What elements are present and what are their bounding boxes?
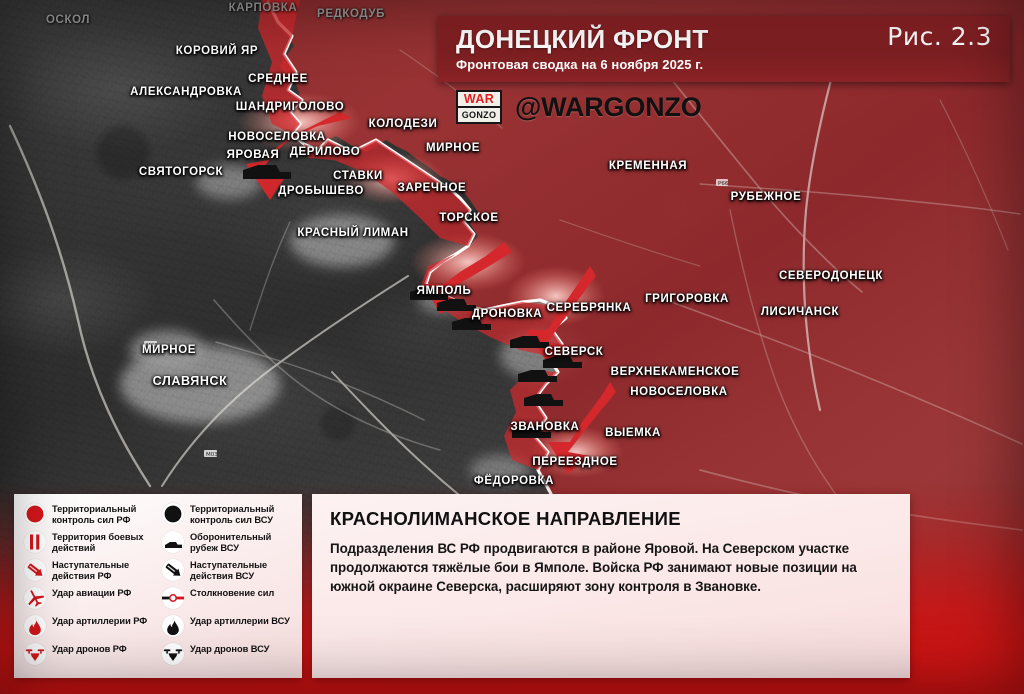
summary-body: Подразделения ВС РФ продвигаются в район… [330,539,892,596]
legend-item-label: Территориальный контроль сил РФ [52,503,156,525]
red-circle-icon [24,503,46,525]
map-infographic: М03 М03 Р66 [0,0,1024,694]
legend-item: Наступательные действия РФ [24,559,156,584]
black-drone-icon [162,643,184,665]
legend-item: Удар артиллерии РФ [24,615,156,640]
summary-title: КРАСНОЛИМАНСКОЕ НАПРАВЛЕНИЕ [330,508,892,530]
wargonzo-handle: @WARGONZO [515,92,702,123]
legend-item-label: Удар артиллерии РФ [52,615,147,627]
red-aircraft-icon [24,587,46,609]
red-arrow-icon [24,559,46,581]
legend-item-label: Удар дронов РФ [52,643,127,655]
black-circle-icon [162,503,184,525]
legend-item-label: Удар дронов ВСУ [190,643,269,655]
legend-item-label: Удар авиации РФ [52,587,131,599]
red-fire-icon [24,615,46,637]
legend-column-rf: Территориальный контроль сил РФТерритори… [24,503,156,672]
legend-item: Оборонительный рубеж ВСУ [162,531,294,556]
clash-icon [162,587,184,609]
wargonzo-logo: WAR GONZO [456,90,502,124]
legend-item: Удар авиации РФ [24,587,156,612]
legend-item: Удар артиллерии ВСУ [162,615,294,640]
legend-item: Территориальный контроль сил РФ [24,503,156,528]
title-bar: ДОНЕЦКИЙ ФРОНТ Фронтовая сводка на 6 ноя… [438,16,1010,82]
legend-item: Наступательные действия ВСУ [162,559,294,584]
legend-item-label: Оборонительный рубеж ВСУ [190,531,294,553]
black-fire-icon [162,615,184,637]
legend-item: Удар дронов РФ [24,643,156,668]
title-subtitle: Фронтовая сводка на 6 ноября 2025 г. [456,57,887,72]
black-arrow-icon [162,559,184,581]
legend-item-label: Наступательные действия РФ [52,559,156,581]
red-drone-icon [24,643,46,665]
legend-column-ua: Территориальный контроль сил ВСУОборонит… [156,503,294,672]
legend-panel: Территориальный контроль сил РФТерритори… [14,494,302,678]
legend-item-label: Удар артиллерии ВСУ [190,615,290,627]
brand-row: WAR GONZO @WARGONZO [456,90,702,124]
legend-item: Территориальный контроль сил ВСУ [162,503,294,528]
summary-panel: КРАСНОЛИМАНСКОЕ НАПРАВЛЕНИЕ Подразделени… [312,494,910,678]
legend-item-label: Территория боевых действий [52,531,156,553]
red-stripes-icon [24,531,46,553]
legend-item-label: Территориальный контроль сил ВСУ [190,503,294,525]
legend-item-label: Наступательные действия ВСУ [190,559,294,581]
legend-item: Столкновение сил [162,587,294,612]
legend-item-label: Столкновение сил [190,587,274,599]
legend-item: Удар дронов ВСУ [162,643,294,668]
figure-number: Рис. 2.3 [887,22,992,51]
legend-item: Территория боевых действий [24,531,156,556]
logo-gonzo-text: GONZO [458,108,500,122]
page-title: ДОНЕЦКИЙ ФРОНТ [456,26,887,53]
logo-war-text: WAR [458,92,500,108]
black-trench-icon [162,531,184,553]
